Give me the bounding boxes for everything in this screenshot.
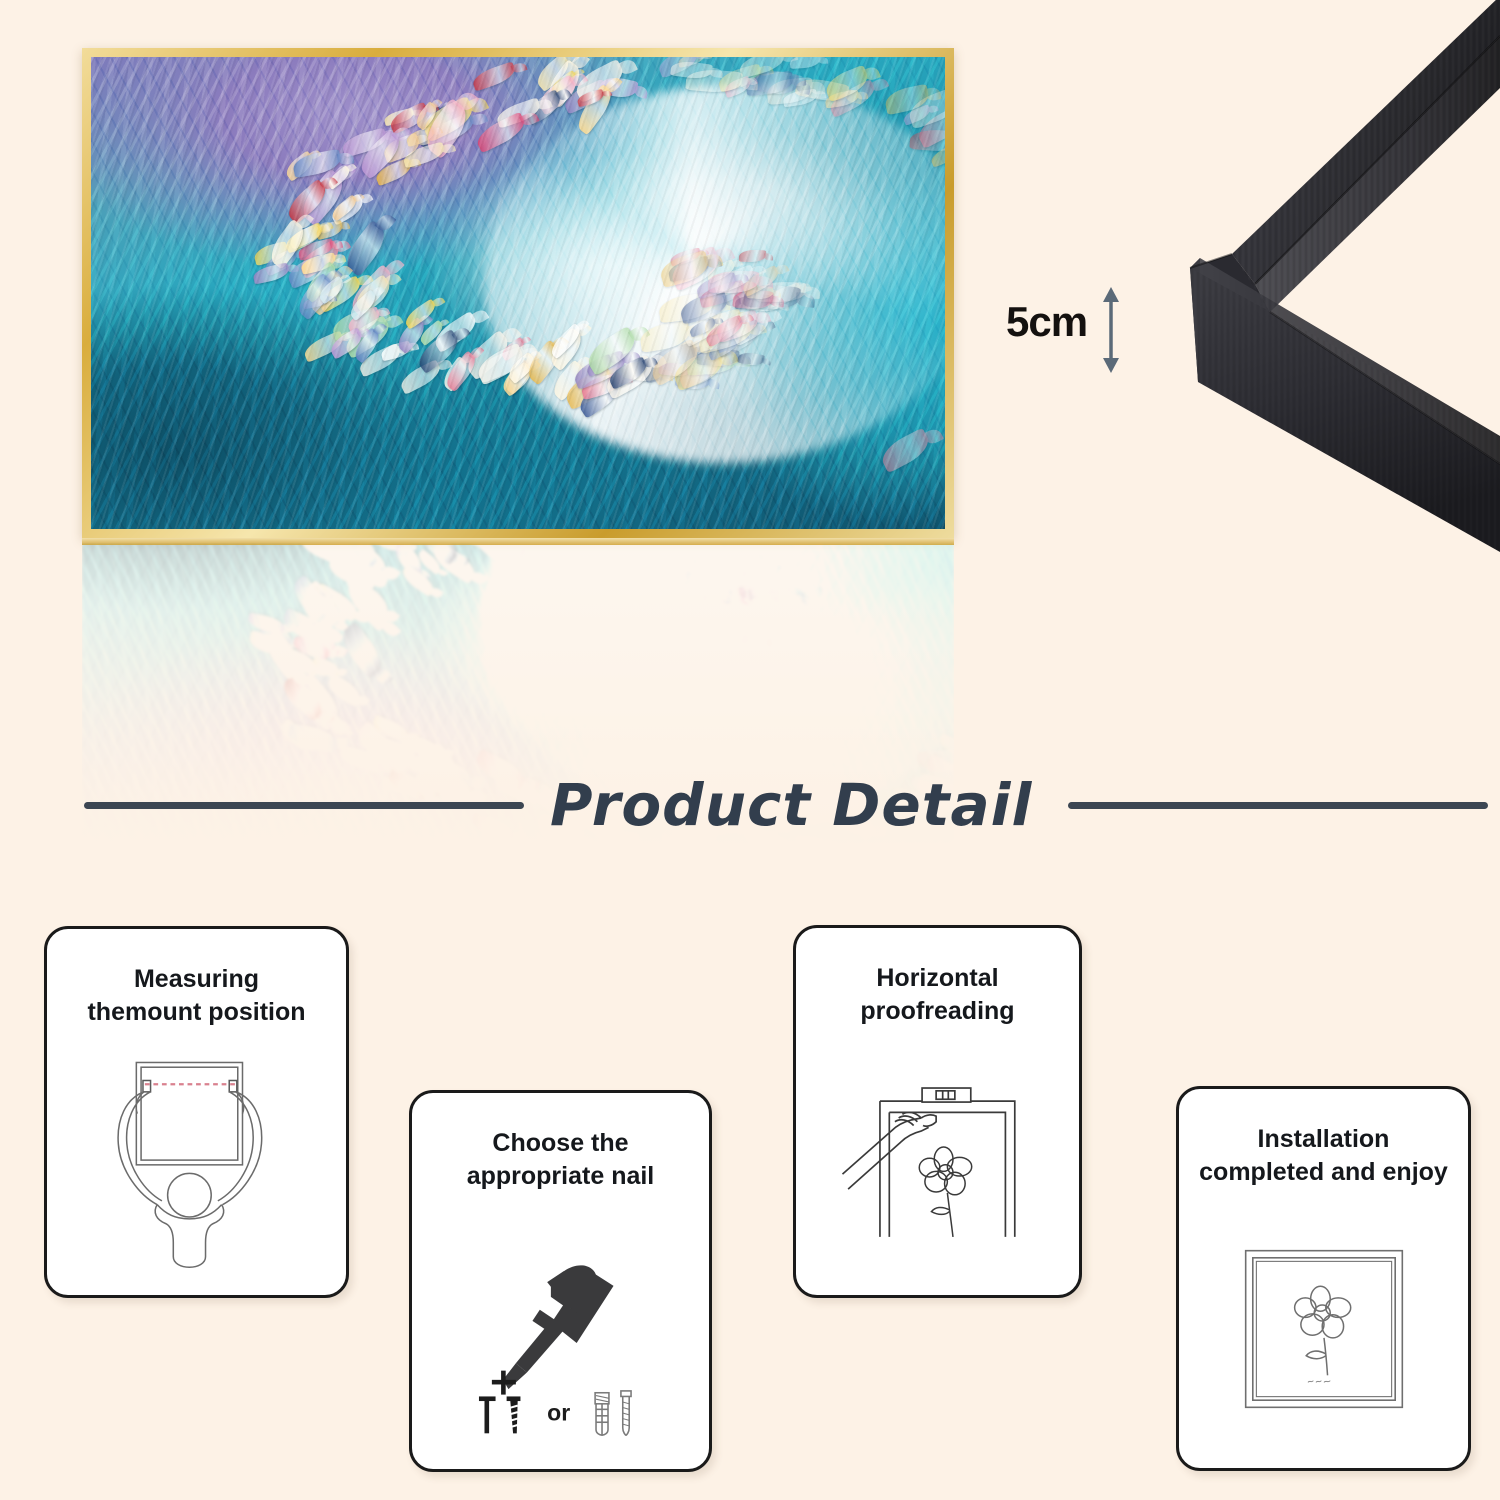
gold-frame — [82, 48, 954, 538]
page-title: Product Detail — [524, 771, 1058, 839]
step-card-title: Choose the appropriate nail — [453, 1127, 669, 1193]
step-card-installation-complete[interactable]: Installation completed and enjoy — [1176, 1086, 1471, 1471]
or-label: or — [547, 1399, 570, 1425]
black-wood-frame-corner — [1080, 0, 1500, 596]
step-card-choose-nail[interactable]: Choose the appropriate nail — [409, 1090, 712, 1472]
spirit-level-on-frame-icon — [796, 1028, 1079, 1295]
step-card-horizontal-proofreading[interactable]: Horizontal proofreading — [793, 925, 1082, 1298]
frame-bottom-lip — [82, 538, 954, 545]
hung-frame-with-flower-icon — [1179, 1189, 1468, 1468]
hammer-and-nails-icon: or — [412, 1193, 709, 1469]
double-headed-vertical-arrow-icon — [1098, 286, 1124, 374]
step-card-measuring[interactable]: Measuring themount position — [44, 926, 349, 1298]
step-card-title: Installation completed and enjoy — [1185, 1123, 1462, 1189]
impasto-texture — [91, 57, 945, 529]
depth-label: 5cm — [1006, 298, 1087, 346]
step-card-title: Measuring themount position — [73, 963, 319, 1029]
step-card-title: Horizontal proofreading — [846, 962, 1028, 1028]
painting-canvas — [91, 57, 945, 529]
heading-rule-right — [1068, 802, 1488, 809]
section-heading-row: Product Detail — [0, 766, 1500, 844]
hero-painting — [82, 48, 954, 538]
product-listing-image: 5cm Product Detail Measuring themount po… — [0, 0, 1500, 1500]
person-holding-frame-icon — [47, 1029, 346, 1295]
heading-rule-left — [84, 802, 524, 809]
